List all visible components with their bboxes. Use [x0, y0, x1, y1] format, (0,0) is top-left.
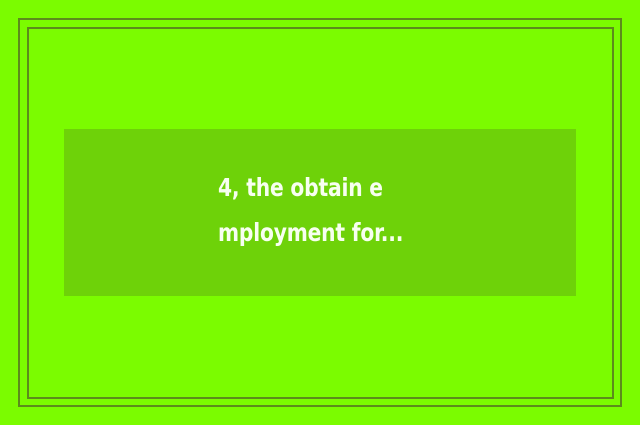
panel-text: 4, the obtain e mployment for... [218, 165, 515, 255]
slide-canvas: 4, the obtain e mployment for... [0, 0, 640, 425]
content-panel: 4, the obtain e mployment for... [64, 129, 576, 296]
